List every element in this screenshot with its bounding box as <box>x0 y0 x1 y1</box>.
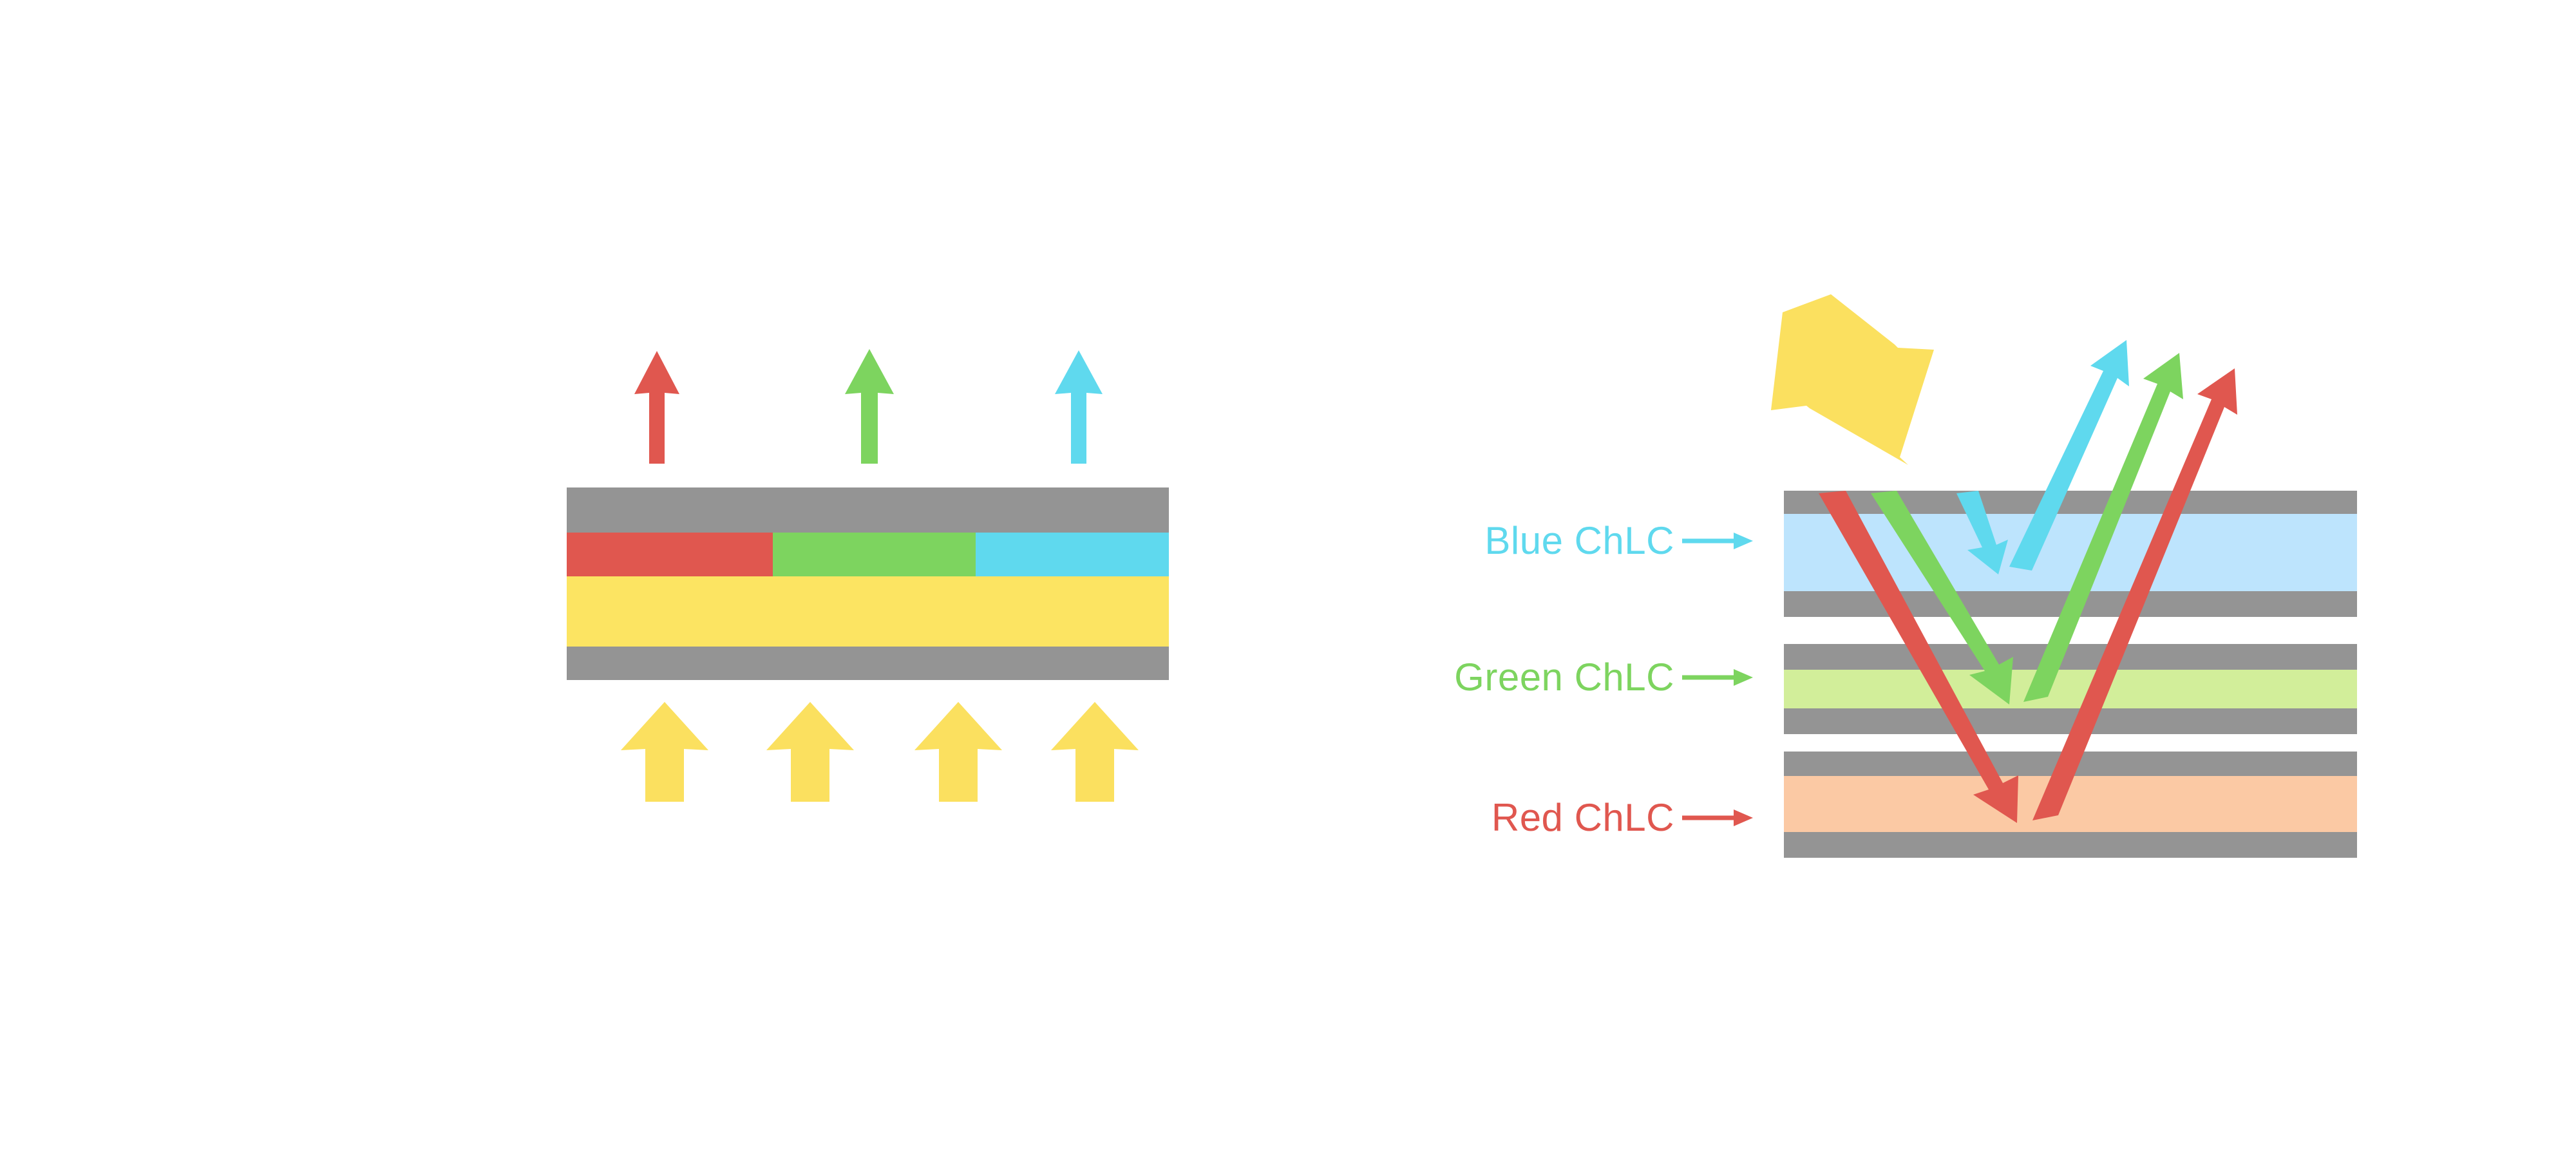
green-emitted-ray <box>845 349 894 464</box>
backlight-layer <box>567 576 1169 647</box>
blue-chlc-label-arrowhead <box>1734 533 1753 549</box>
green-subpixel <box>773 533 976 576</box>
backlight-ray-3 <box>914 702 1002 802</box>
left-panel <box>567 349 1169 802</box>
green-chlc-layer <box>1784 670 2357 708</box>
blue-cell-top-electrode <box>1784 491 2357 514</box>
green-chlc-label-arrowhead <box>1734 669 1753 686</box>
left-stack <box>567 487 1169 680</box>
red-emitted-ray <box>634 351 679 464</box>
bottom-electrode <box>567 647 1169 680</box>
green-cell-bottom-electrode <box>1784 708 2357 734</box>
left-emitted-arrows <box>634 349 1103 464</box>
ambient-white-light-ray <box>1771 294 1934 465</box>
chlc-labels: Blue ChLC Green ChLC Red ChLC <box>1454 519 1753 839</box>
red-chlc-label-arrowhead <box>1734 809 1753 826</box>
blue-chlc-label: Blue ChLC <box>1484 519 1674 562</box>
backlight-ray-2 <box>766 702 854 802</box>
backlight-ray-1 <box>621 702 708 802</box>
red-subpixel <box>567 533 773 576</box>
right-panel: Blue ChLC Green ChLC Red ChLC <box>1454 294 2357 858</box>
cyan-emitted-ray <box>1055 350 1103 464</box>
red-cell-bottom-electrode <box>1784 832 2357 858</box>
backlight-arrows <box>621 702 1139 802</box>
backlight-ray-4 <box>1051 702 1139 802</box>
top-electrode <box>567 487 1169 533</box>
green-cell-top-electrode <box>1784 644 2357 670</box>
diagram-canvas: Blue ChLC Green ChLC Red ChLC <box>0 0 2576 1154</box>
green-chlc-label: Green ChLC <box>1454 656 1674 699</box>
cyan-subpixel <box>976 533 1169 576</box>
red-chlc-label: Red ChLC <box>1492 796 1674 839</box>
